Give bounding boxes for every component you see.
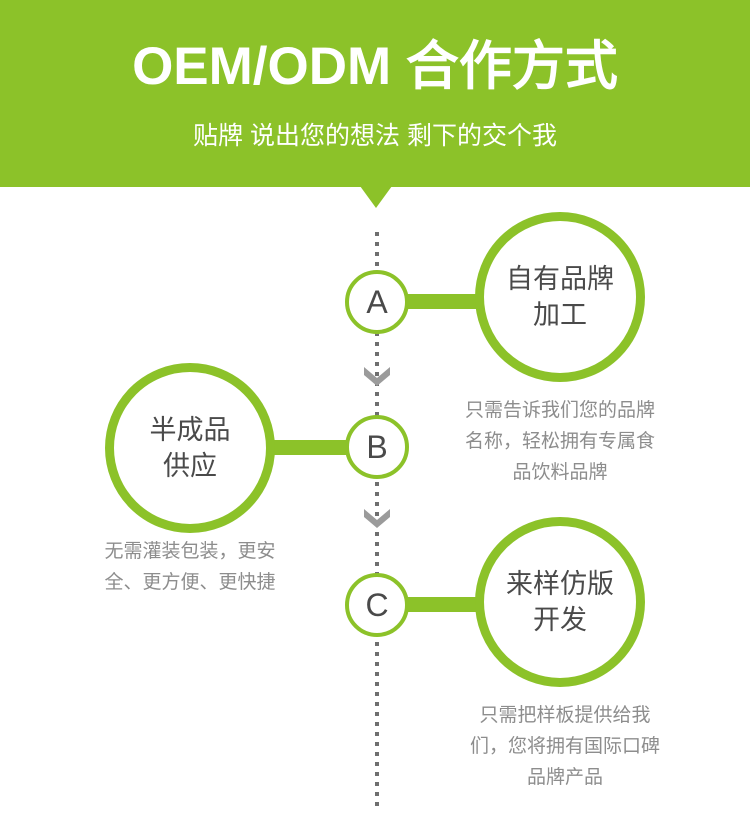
step-topic-circle-a[interactable]: 自有品牌 加工 <box>475 212 645 382</box>
connector-bar-b <box>272 440 347 455</box>
page-title: OEM/ODM 合作方式 <box>0 36 750 98</box>
step-marker-a[interactable]: A <box>345 270 409 334</box>
header-notch-triangle <box>360 186 392 208</box>
connector-bar-a <box>405 294 480 309</box>
step-topic-circle-b[interactable]: 半成品 供应 <box>105 363 275 533</box>
step-caption-b: 无需灌装包装，更安 全、更方便、更快捷 <box>60 536 320 598</box>
step-caption-a: 只需告诉我们您的品牌 名称，轻松拥有专属食 品饮料品牌 <box>440 395 680 488</box>
page-subtitle: 贴牌 说出您的想法 剩下的交个我 <box>0 119 750 153</box>
chevron-down-icon-a-to-b <box>364 366 390 392</box>
step-caption-c: 只需把样板提供给我 们，您将拥有国际口碑 品牌产品 <box>440 700 690 793</box>
connector-bar-c <box>405 597 480 612</box>
chevron-down-icon-b-to-c <box>364 508 390 534</box>
step-topic-circle-c[interactable]: 来样仿版 开发 <box>475 517 645 687</box>
oem-odm-infographic: OEM/ODM 合作方式 贴牌 说出您的想法 剩下的交个我 A 自有品牌 加工 … <box>0 0 750 823</box>
step-marker-b[interactable]: B <box>345 415 409 479</box>
step-marker-c[interactable]: C <box>345 573 409 637</box>
